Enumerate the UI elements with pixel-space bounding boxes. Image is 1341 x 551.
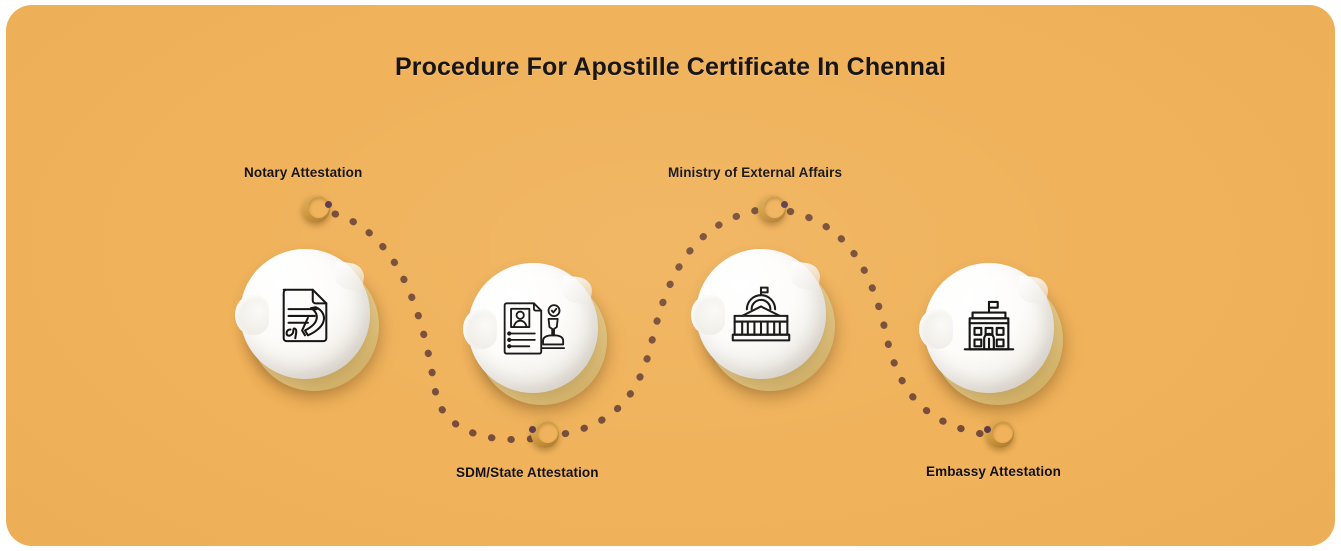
capitol-building-icon <box>696 249 826 379</box>
flow-marker-2 <box>531 420 559 448</box>
embassy-building-icon <box>924 263 1054 393</box>
step-label-embassy: Embassy Attestation <box>926 464 1061 479</box>
flow-marker-3 <box>758 195 786 223</box>
step-label-notary: Notary Attestation <box>244 165 362 180</box>
infographic-card: Procedure For Apostille Certificate In C… <box>6 5 1335 546</box>
document-stamp-icon <box>468 263 598 393</box>
infographic-stage: Procedure For Apostille Certificate In C… <box>0 0 1341 551</box>
flow-marker-4 <box>986 420 1014 448</box>
document-signature-icon <box>240 249 370 379</box>
flow-marker-1 <box>302 195 330 223</box>
step-label-mea: Ministry of External Affairs <box>668 165 842 180</box>
step-label-sdm-state: SDM/State Attestation <box>456 465 599 480</box>
connector-paths <box>6 5 1335 546</box>
page-title: Procedure For Apostille Certificate In C… <box>6 53 1335 82</box>
